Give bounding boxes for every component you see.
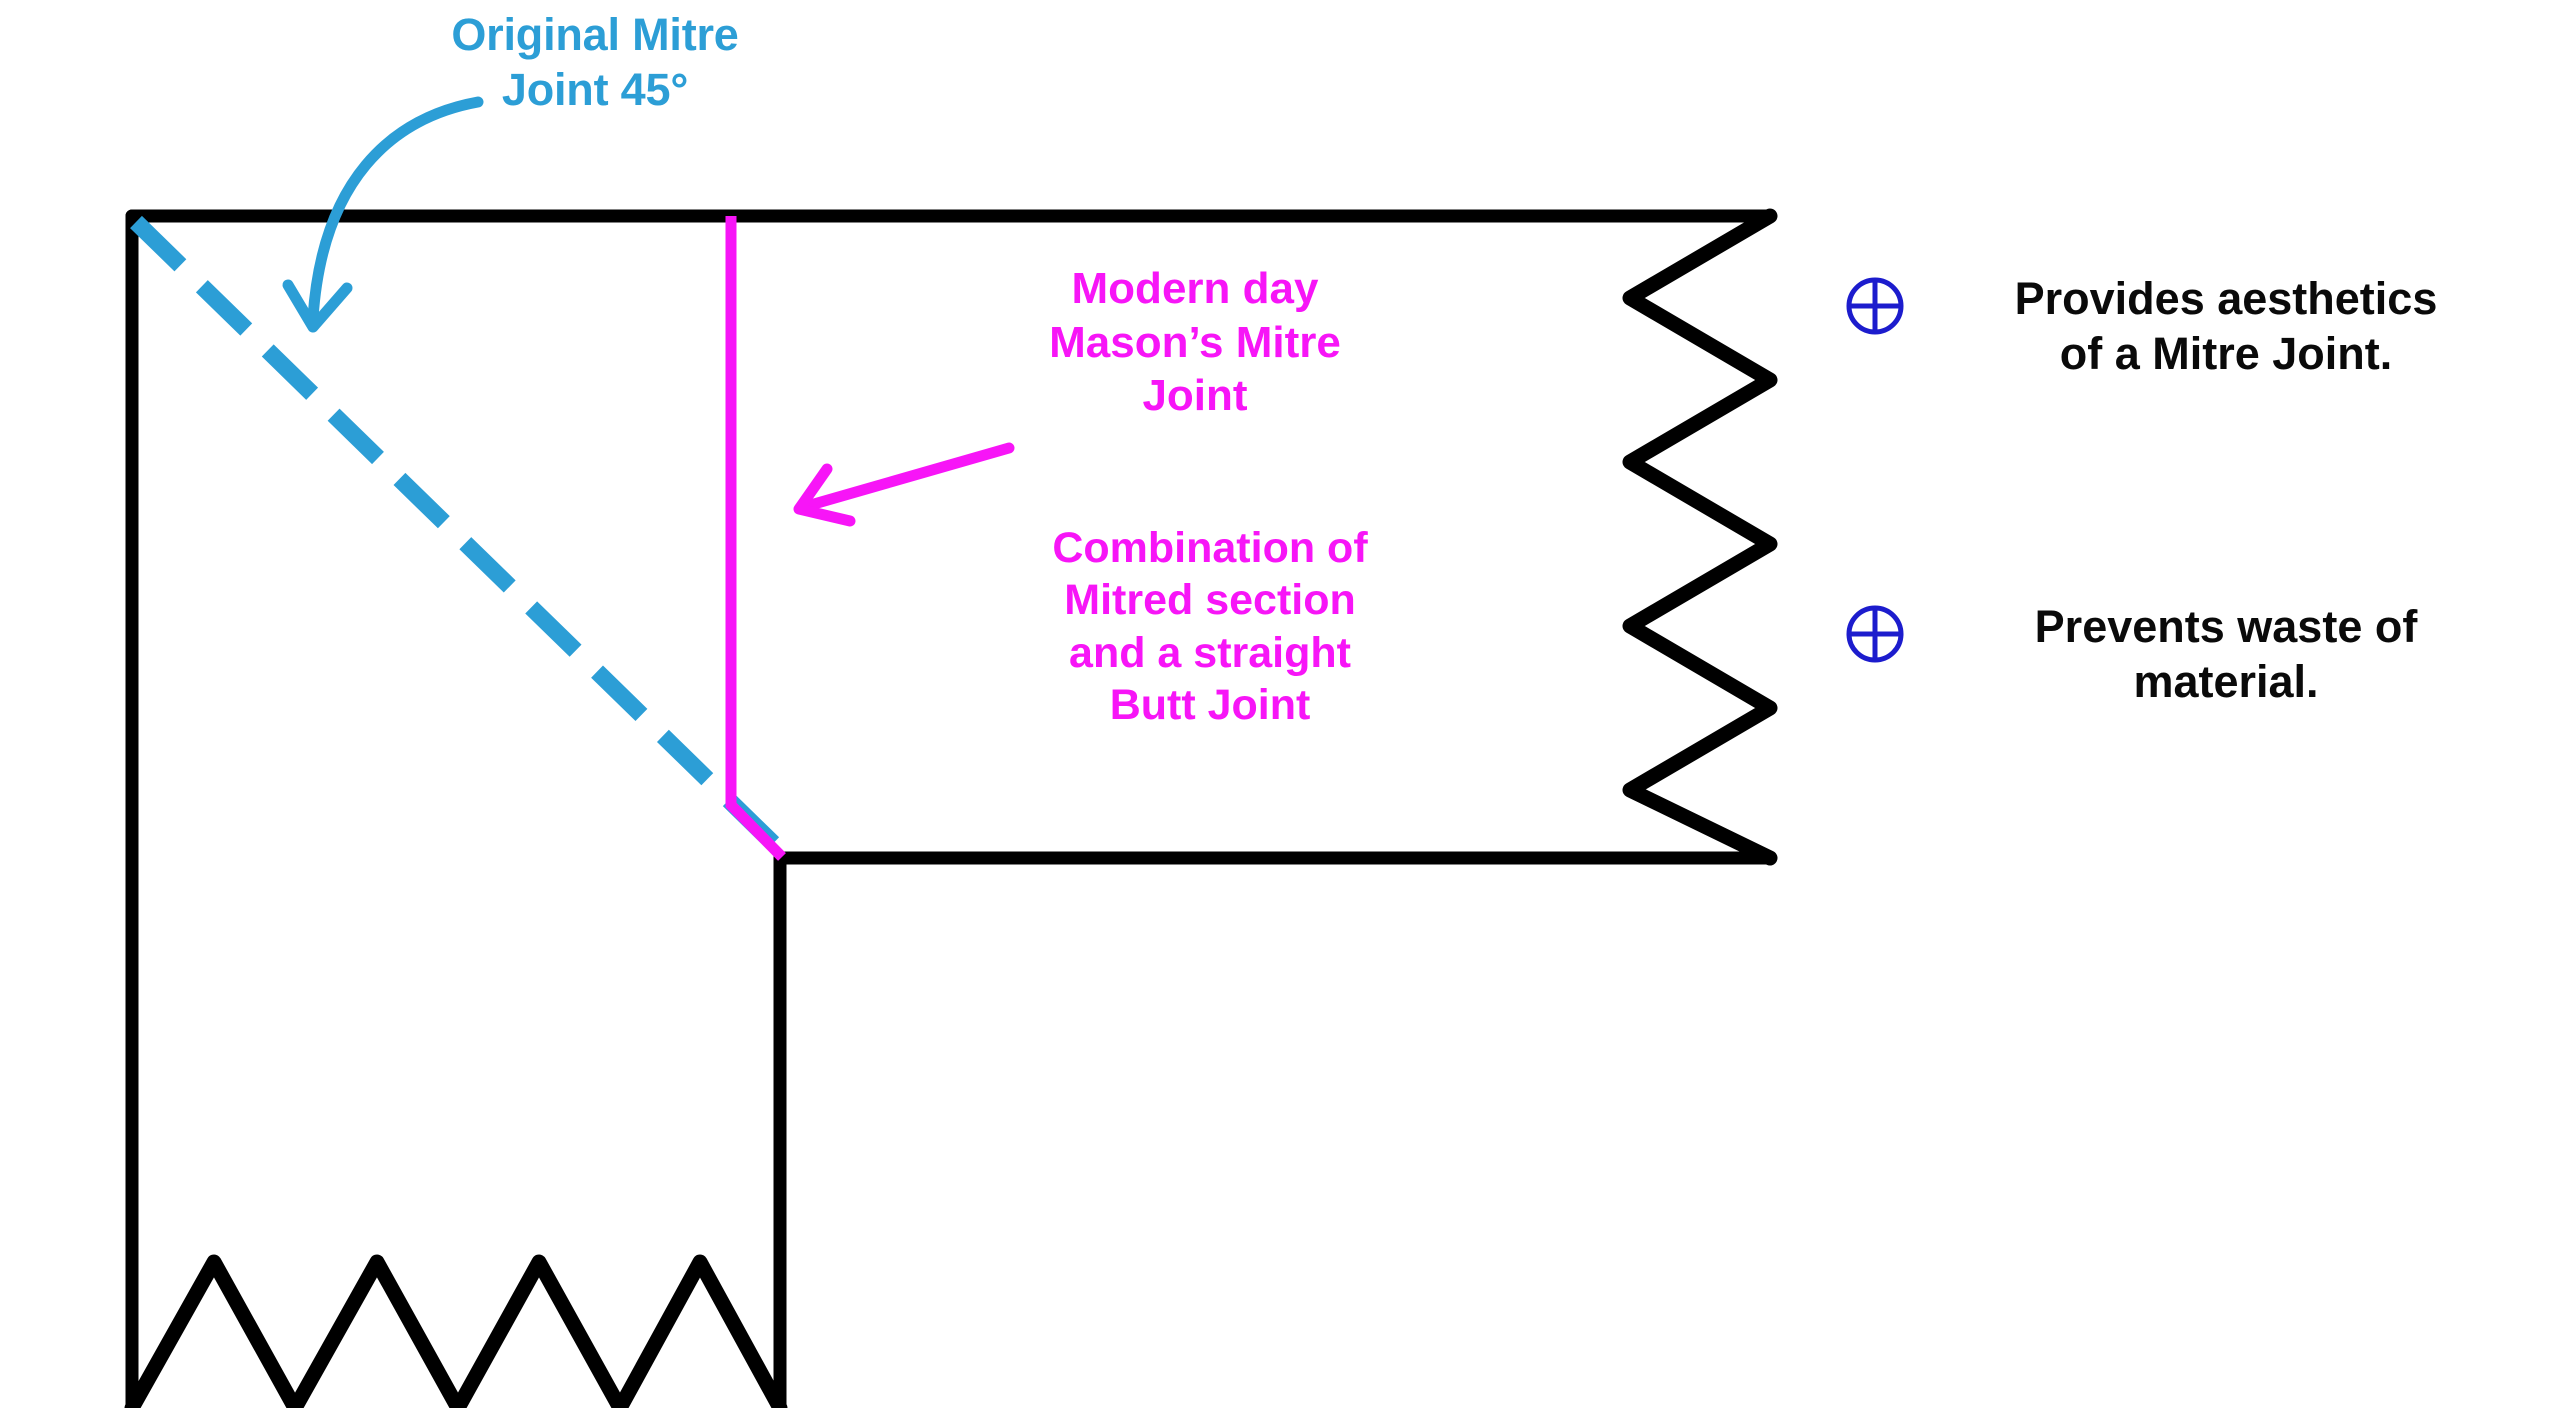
- combination-label: Combination of Mitred section and a stra…: [960, 522, 1460, 732]
- benefit-item: Provides aesthetics of a Mitre Joint.: [1845, 272, 2531, 382]
- plus-circle-icon: [1845, 604, 1905, 669]
- modern-mitre-label: Modern day Mason’s Mitre Joint: [960, 262, 1430, 423]
- diagram-canvas: Original Mitre Joint 45° Modern day Maso…: [0, 0, 2560, 1408]
- original-mitre-label: Original Mitre Joint 45°: [360, 8, 830, 118]
- benefit-text: Provides aesthetics of a Mitre Joint.: [1921, 272, 2531, 382]
- benefit-text: Prevents waste of material.: [1921, 600, 2531, 710]
- modern-mitre-arrow-shaft: [800, 448, 1009, 508]
- modern-mitre-joint-line: [731, 216, 782, 857]
- benefit-item: Prevents waste of material.: [1845, 600, 2531, 710]
- plus-circle-icon: [1845, 276, 1905, 341]
